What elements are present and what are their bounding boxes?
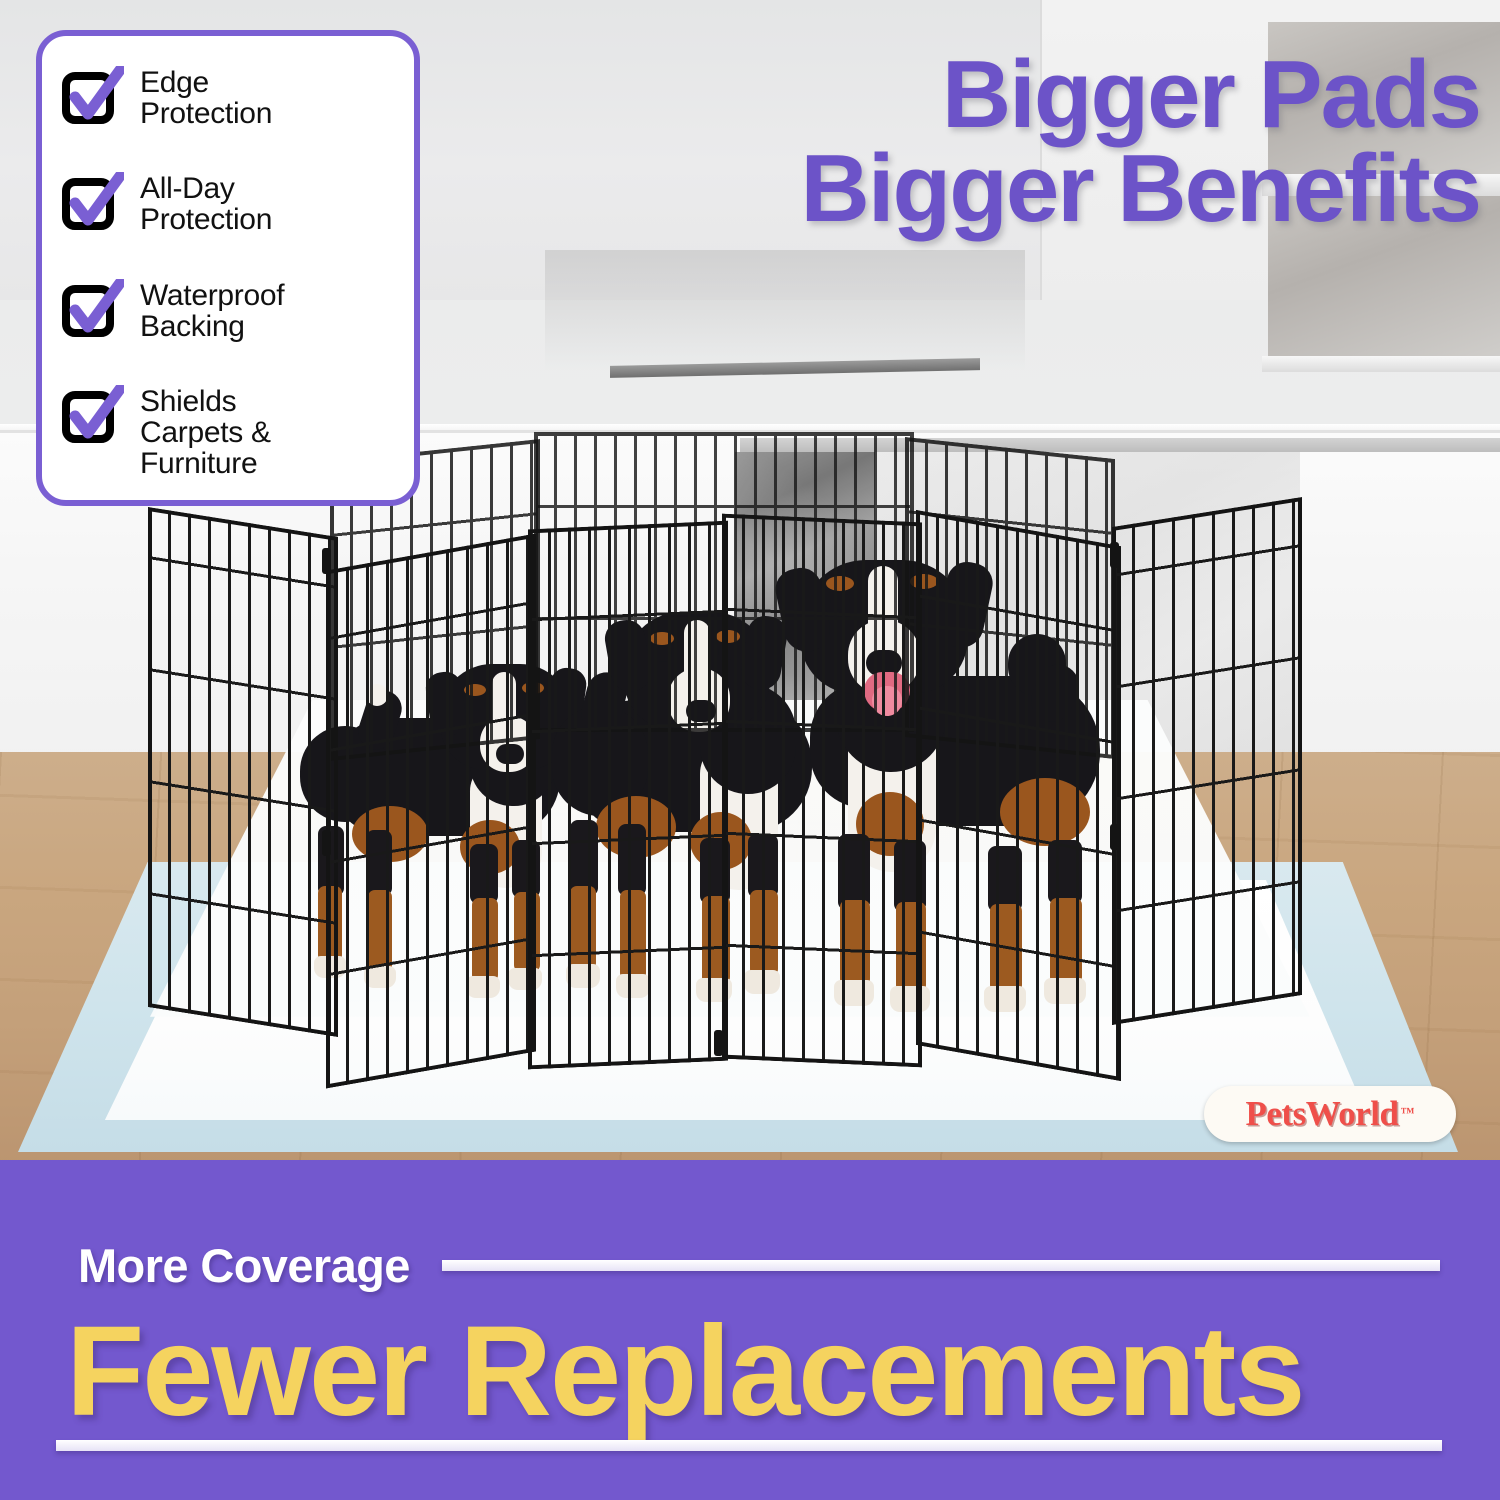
feature-label: ShieldsCarpets &Furniture [140, 381, 271, 480]
feature-label: All-DayProtection [140, 168, 272, 236]
feature-item-all-day-protection: All-DayProtection [62, 168, 394, 236]
checkbox-check-icon [62, 279, 124, 339]
brand-logo-text: PetsWorld [1246, 1094, 1399, 1134]
checkbox-check-icon [62, 66, 124, 126]
headline-line-2: Bigger Benefits [420, 142, 1480, 236]
banner-divider-top [442, 1260, 1440, 1271]
banner-eyebrow-text: More Coverage [78, 1238, 410, 1293]
pen-panel-left-near [326, 533, 536, 1088]
pen-panel-right-near [916, 510, 1121, 1081]
banner-divider-bottom [56, 1440, 1442, 1451]
pen-panel-front-right [722, 514, 922, 1068]
pen-hinge [322, 548, 331, 574]
product-graphic-canvas: EdgeProtection All-DayProtection Waterpr… [0, 0, 1500, 1500]
feature-item-shields-carpets-furniture: ShieldsCarpets &Furniture [62, 381, 394, 480]
headline: Bigger Pads Bigger Benefits [420, 48, 1480, 236]
wire-playpen [0, 430, 1500, 1090]
pen-hinge [1110, 824, 1119, 850]
pen-panel-left-far [148, 507, 338, 1037]
banner-eyebrow-row: More Coverage [78, 1238, 1440, 1293]
feature-item-waterproof-backing: WaterproofBacking [62, 275, 394, 343]
brand-logo: PetsWorld™ [1204, 1086, 1456, 1142]
wall-shadow [545, 250, 1025, 370]
trademark-symbol: ™ [1400, 1106, 1414, 1122]
pen-hinge [322, 830, 331, 856]
cabinet-rail-bottom [1262, 356, 1500, 372]
banner-main-text: Fewer Replacements [66, 1308, 1446, 1436]
headline-line-1: Bigger Pads [942, 41, 1480, 148]
pen-hinge [1110, 542, 1119, 568]
checkbox-check-icon [62, 385, 124, 445]
pen-panel-right-far [1112, 497, 1302, 1025]
feature-label: WaterproofBacking [140, 275, 284, 343]
pen-panel-front-left [528, 521, 728, 1070]
checkbox-check-icon [62, 172, 124, 232]
feature-list-card: EdgeProtection All-DayProtection Waterpr… [36, 30, 420, 506]
feature-item-edge-protection: EdgeProtection [62, 62, 394, 130]
feature-label: EdgeProtection [140, 62, 272, 130]
pen-hinge [714, 1030, 723, 1056]
